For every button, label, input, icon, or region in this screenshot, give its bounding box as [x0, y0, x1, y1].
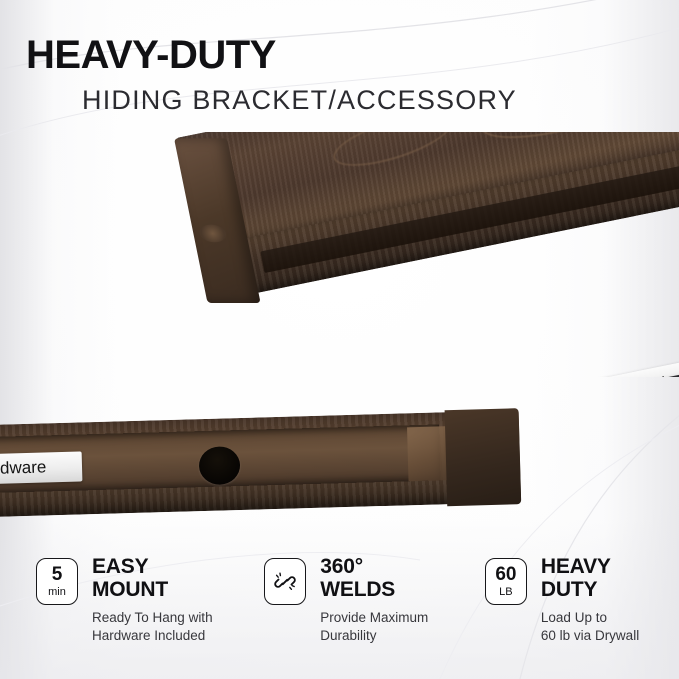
- wood-grain-icon: [328, 132, 458, 177]
- feature-text: 360° WELDS Provide Maximum Durability: [320, 556, 428, 644]
- badge-unit: LB: [499, 587, 512, 598]
- badge-number: 5: [52, 565, 63, 584]
- label-top-text: nstallation h: [583, 358, 679, 377]
- feature-description: Provide Maximum Durability: [320, 609, 428, 644]
- feature-title: HEAVY DUTY: [541, 556, 639, 601]
- feature-title: EASY MOUNT: [92, 556, 213, 601]
- feature-text: HEAVY DUTY Load Up to 60 lb via Drywall: [541, 556, 639, 644]
- clock-badge-icon: 5 min: [36, 558, 78, 605]
- feature-title: 360° WELDS: [320, 556, 428, 601]
- feature-description: Load Up to 60 lb via Drywall: [541, 609, 639, 644]
- feature-description: Ready To Hang with Hardware Included: [92, 609, 213, 644]
- wood-shelf-underside: ion hardware: [0, 410, 521, 518]
- shelf-right-end: [445, 408, 522, 506]
- installation-hardware-label-bottom: ion hardware: [0, 451, 82, 485]
- feature-row: 5 min EASY MOUNT Ready To Hang with Hard…: [0, 548, 679, 668]
- feature-easy-mount: 5 min EASY MOUNT Ready To Hang with Hard…: [0, 548, 257, 668]
- broken-chain-link-icon: [264, 558, 306, 605]
- wood-shelf-top: [176, 132, 679, 344]
- wood-knot-icon: [198, 225, 228, 243]
- badge-unit: min: [48, 587, 66, 598]
- feature-heavy-duty: 60 LB HEAVY DUTY Load Up to 60 lb via Dr…: [473, 548, 679, 668]
- wood-grain-icon: [473, 132, 674, 153]
- label-bottom-text: ion hardware: [0, 451, 82, 485]
- installation-hardware-label-top: nstallation h: [583, 358, 679, 377]
- feature-360-welds: 360° WELDS Provide Maximum Durability: [257, 548, 473, 668]
- page-subtitle: HIDING BRACKET/ACCESSORY: [0, 86, 679, 114]
- badge-number: 60: [495, 565, 516, 584]
- page-title: HEAVY-DUTY: [0, 34, 679, 76]
- weight-badge-icon: 60 LB: [485, 558, 527, 605]
- product-infographic: HEAVY-DUTY HIDING BRACKET/ACCESSORY nsta…: [0, 0, 679, 679]
- product-photo-top: nstallation h: [0, 132, 679, 377]
- feature-text: EASY MOUNT Ready To Hang with Hardware I…: [92, 556, 213, 644]
- product-photo-bottom: ion hardware: [0, 404, 679, 534]
- headline-block: HEAVY-DUTY HIDING BRACKET/ACCESSORY: [0, 34, 679, 115]
- chain-link-glyph: [273, 570, 297, 594]
